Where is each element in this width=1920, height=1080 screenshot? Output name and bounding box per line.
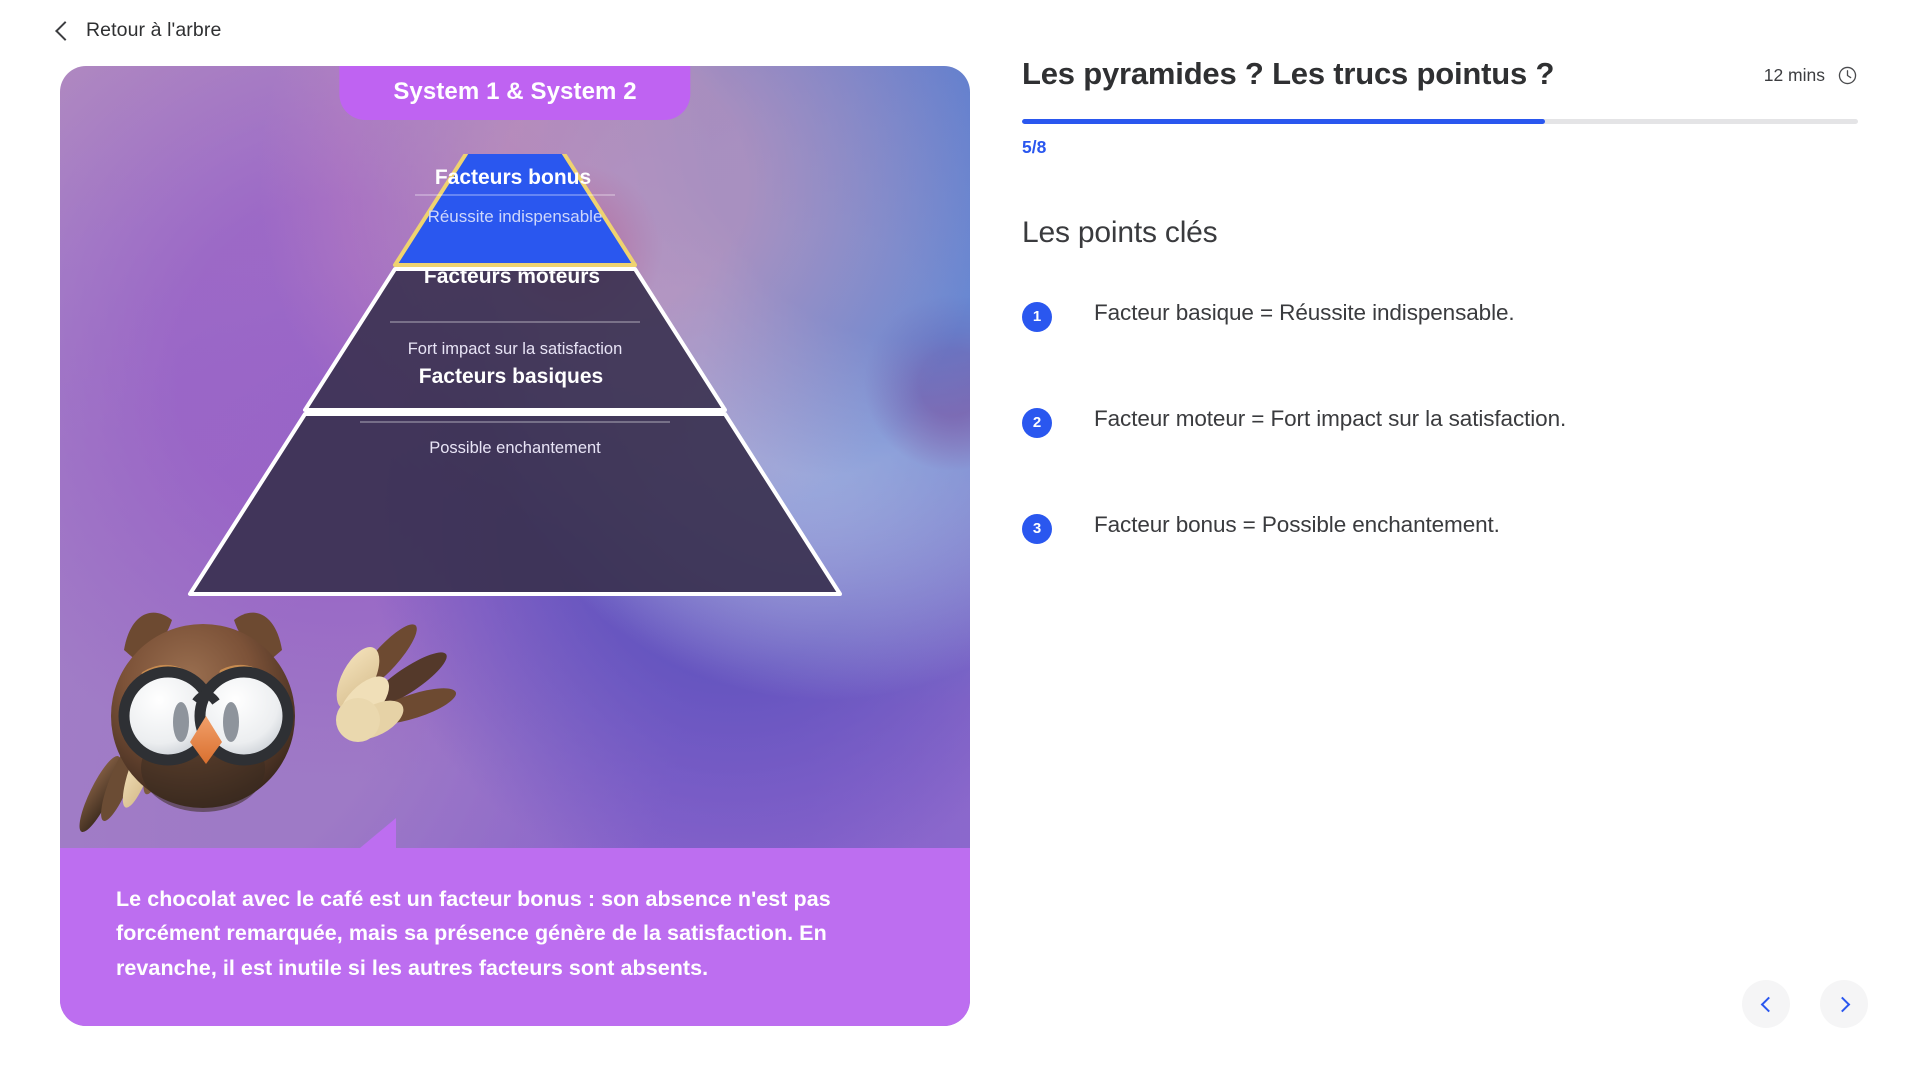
- next-slide-button[interactable]: [1820, 980, 1868, 1028]
- point-text: Facteur bonus = Possible enchantement.: [1094, 510, 1500, 540]
- key-points-heading: Les points clés: [1022, 216, 1858, 250]
- point-number-badge: 1: [1022, 302, 1052, 332]
- list-item: 2 Facteur moteur = Fort impact sur la sa…: [1022, 404, 1858, 438]
- chevron-right-icon: [1834, 996, 1850, 1012]
- chevron-left-icon: [55, 21, 75, 41]
- owl-pupil-right: [223, 702, 239, 742]
- top-bar: Retour à l'arbre: [0, 0, 1920, 60]
- pyramid-tier-moteurs: [305, 269, 725, 410]
- pyramid-tier-basiques: [190, 414, 840, 594]
- list-item: 3 Facteur bonus = Possible enchantement.: [1022, 510, 1858, 544]
- visual-card: System 1 & System 2 Facteurs bonus Réuss…: [60, 66, 970, 1026]
- point-text: Facteur moteur = Fort impact sur la sati…: [1094, 404, 1566, 434]
- owl-mascot-icon: [68, 598, 488, 848]
- key-points-list: 1 Facteur basique = Réussite indispensab…: [1022, 298, 1858, 544]
- pyramid-diagram: Facteurs bonus Réussite indispensable Fa…: [60, 154, 970, 654]
- lesson-header: Les pyramides ? Les trucs pointus ? 12 m…: [1022, 56, 1858, 93]
- point-number-badge: 2: [1022, 408, 1052, 438]
- point-number-badge: 3: [1022, 514, 1052, 544]
- concept-badge: System 1 & System 2: [339, 66, 690, 120]
- mascot-speech-text: Le chocolat avec le café est un facteur …: [116, 882, 918, 986]
- lesson-progress-bar: [1022, 119, 1858, 124]
- back-to-tree-label: Retour à l'arbre: [86, 19, 221, 42]
- point-text: Facteur basique = Réussite indispensable…: [1094, 298, 1515, 328]
- pyramid-svg: [60, 154, 970, 654]
- mascot-speech-bubble: Le chocolat avec le café est un facteur …: [60, 848, 970, 1026]
- speech-bubble-tail: [360, 818, 396, 848]
- lesson-progress-fill: [1022, 119, 1545, 124]
- list-item: 1 Facteur basique = Réussite indispensab…: [1022, 298, 1858, 332]
- lesson-duration: 12 mins: [1764, 56, 1858, 86]
- duration-label: 12 mins: [1764, 65, 1825, 86]
- slide-navigation: [1742, 980, 1868, 1028]
- owl-waving-wing: [328, 617, 460, 747]
- lesson-panel: Les pyramides ? Les trucs pointus ? 12 m…: [1022, 56, 1858, 616]
- page-title: Les pyramides ? Les trucs pointus ?: [1022, 56, 1554, 93]
- progress-count: 5/8: [1022, 137, 1858, 158]
- chevron-left-icon: [1760, 996, 1776, 1012]
- pyramid-tier-bonus: [395, 154, 635, 265]
- owl-pupil-left: [173, 702, 189, 742]
- back-to-tree-link[interactable]: Retour à l'arbre: [58, 19, 221, 42]
- clock-icon: [1837, 65, 1858, 86]
- previous-slide-button[interactable]: [1742, 980, 1790, 1028]
